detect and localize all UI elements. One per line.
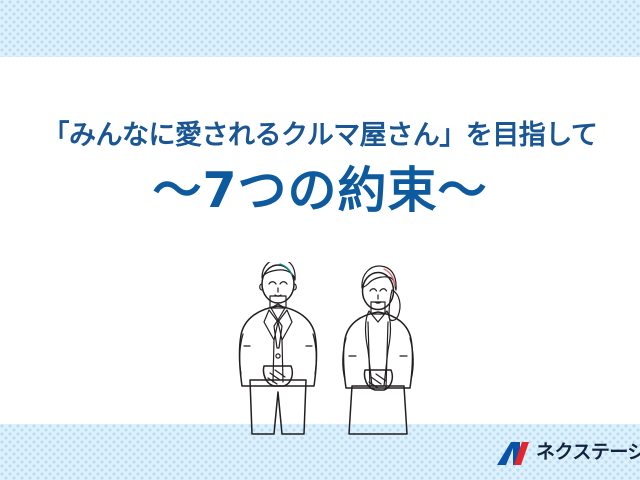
- staff-illustration: .ln { fill:none; stroke:#231f20; stroke-…: [228, 262, 428, 442]
- female-staff-figure: [343, 266, 413, 434]
- male-trousers: [250, 380, 306, 434]
- nextage-n-mark-icon: [497, 440, 529, 465]
- headline-title: 〜7つの約束〜: [0, 162, 640, 220]
- female-skirt: [349, 386, 407, 434]
- promotion-banner: 「みんなに愛されるクルマ屋さん」を目指して 〜7つの約束〜 .ln { fill…: [0, 0, 640, 480]
- male-staff-figure: [239, 262, 316, 434]
- headline-subtitle: 「みんなに愛されるクルマ屋さん」を目指して: [0, 118, 640, 154]
- brand-logo-text: ネクステージ: [536, 443, 640, 462]
- male-hands: [263, 366, 292, 386]
- male-jacket: [239, 306, 316, 386]
- female-hands: [364, 370, 392, 390]
- brand-logo: ネクステージ: [497, 436, 619, 468]
- female-jacket: [343, 312, 412, 388]
- headline-block: 「みんなに愛されるクルマ屋さん」を目指して 〜7つの約束〜: [0, 118, 640, 220]
- top-polka-dot-band: [0, 0, 640, 57]
